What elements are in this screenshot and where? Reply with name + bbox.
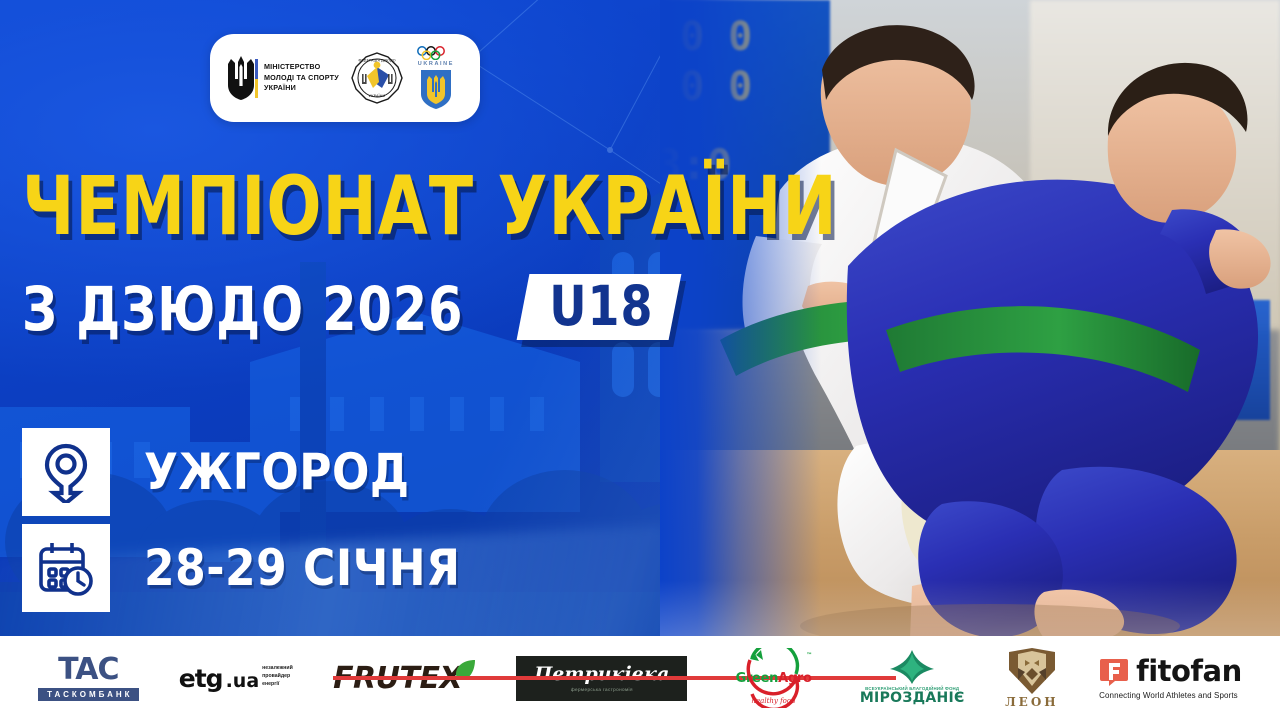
green-agro-tm: ™: [807, 652, 812, 658]
federation-ring-bottom: УКРАЇНИ: [369, 93, 386, 98]
event-poster: 0 0 0 0 3:0: [0, 0, 1280, 720]
federation-ring-top: ФЕДЕРАЦІЯ ДЗЮДО: [358, 59, 395, 63]
venue-row: УЖГОРОД: [22, 424, 460, 520]
ministry-line-2: МОЛОДІ ТА СПОРТУ: [264, 73, 339, 83]
ministry-logo: МІНІСТЕРСТВО МОЛОДІ ТА СПОРТУ УКРАЇНИ: [224, 55, 339, 101]
age-category-badge: U18: [516, 274, 681, 340]
olympic-rings-icon: [415, 46, 457, 60]
mirozdaniye-leaf-icon: [889, 650, 935, 684]
ministry-text: МІНІСТЕРСТВО МОЛОДІ ТА СПОРТУ УКРАЇНИ: [264, 62, 339, 93]
etg-sub-1: незалежний: [262, 665, 293, 673]
etg-domain: .ua: [226, 672, 260, 691]
taskombank-mark: TAC: [58, 655, 118, 685]
leon-mark: ЛЕОН: [1005, 695, 1059, 709]
age-category-label: U18: [549, 278, 653, 333]
location-pin-icon: [38, 441, 94, 503]
taskombank-label: ТАСКОМБАНК: [38, 688, 138, 701]
fitofan-bubble-icon: [1099, 657, 1129, 687]
headline-line-2: З ДЗЮДО 2026: [22, 280, 463, 340]
etg-mark: etg: [179, 668, 223, 691]
dates-row: 28-29 СІЧНЯ: [22, 520, 460, 616]
sponsor-green-agro[interactable]: GreenAgro ™ healthy food: [728, 647, 820, 709]
noc-ukraine-logo: UKRAINE: [415, 46, 457, 110]
fitofan-mark: fitofan: [1136, 658, 1242, 684]
leon-lion-icon: [1005, 648, 1059, 694]
headline-line-1: ЧЕМПІОНАТ УКРАЇНИ: [22, 168, 699, 248]
judo-federation-emblem: ФЕДЕРАЦІЯ ДЗЮДО УКРАЇНИ: [349, 50, 405, 106]
etg-subtitle: незалежний провайдер енергії: [262, 665, 293, 688]
event-dates: 28-29 СІЧНЯ: [144, 539, 460, 597]
judo-athletes-photo: 0 0 0 0 3:0: [660, 0, 1280, 640]
petrykivka-mark: Петриківка: [534, 665, 669, 684]
trident-icon: [224, 55, 258, 101]
ministry-line-1: МІНІСТЕРСТВО: [264, 62, 339, 72]
venue-city: УЖГОРОД: [144, 443, 410, 501]
sponsor-taskombank[interactable]: TAC ТАСКОМБАНК: [38, 647, 138, 709]
noc-country-label: UKRAINE: [418, 61, 454, 67]
location-pin-icon-box: [22, 428, 110, 516]
event-details: УЖГОРОД: [22, 424, 460, 616]
green-agro-tagline: healthy food: [728, 697, 820, 705]
sponsor-leon[interactable]: ЛЕОН: [1005, 647, 1059, 709]
mirozdaniye-mark: МІРОЗДАНІЄ: [860, 691, 965, 706]
calendar-clock-icon-box: [22, 524, 110, 612]
event-headline: ЧЕМПІОНАТ УКРАЇНИ З ДЗЮДО 2026 U18: [22, 168, 742, 340]
organizer-logo-bar: МІНІСТЕРСТВО МОЛОДІ ТА СПОРТУ УКРАЇНИ ФЕ…: [210, 34, 480, 122]
ministry-line-3: УКРАЇНИ: [264, 83, 339, 93]
sponsor-bar: TAC ТАСКОМБАНК etg .ua незалежний провай…: [0, 636, 1280, 720]
fitofan-tagline: Connecting World Athletes and Sports: [1099, 691, 1238, 700]
sponsor-etg-ua[interactable]: etg .ua незалежний провайдер енергії: [179, 647, 293, 709]
etg-sub-3: енергії: [262, 681, 293, 689]
petrykivka-subtitle: фермерська гастрономія: [571, 687, 633, 692]
etg-sub-2: провайдер: [262, 673, 293, 681]
calendar-clock-icon: [37, 540, 95, 596]
ukraine-trident-shield: [419, 68, 453, 110]
sponsor-fitofan[interactable]: fitofan Connecting World Athletes and Sp…: [1099, 647, 1242, 709]
